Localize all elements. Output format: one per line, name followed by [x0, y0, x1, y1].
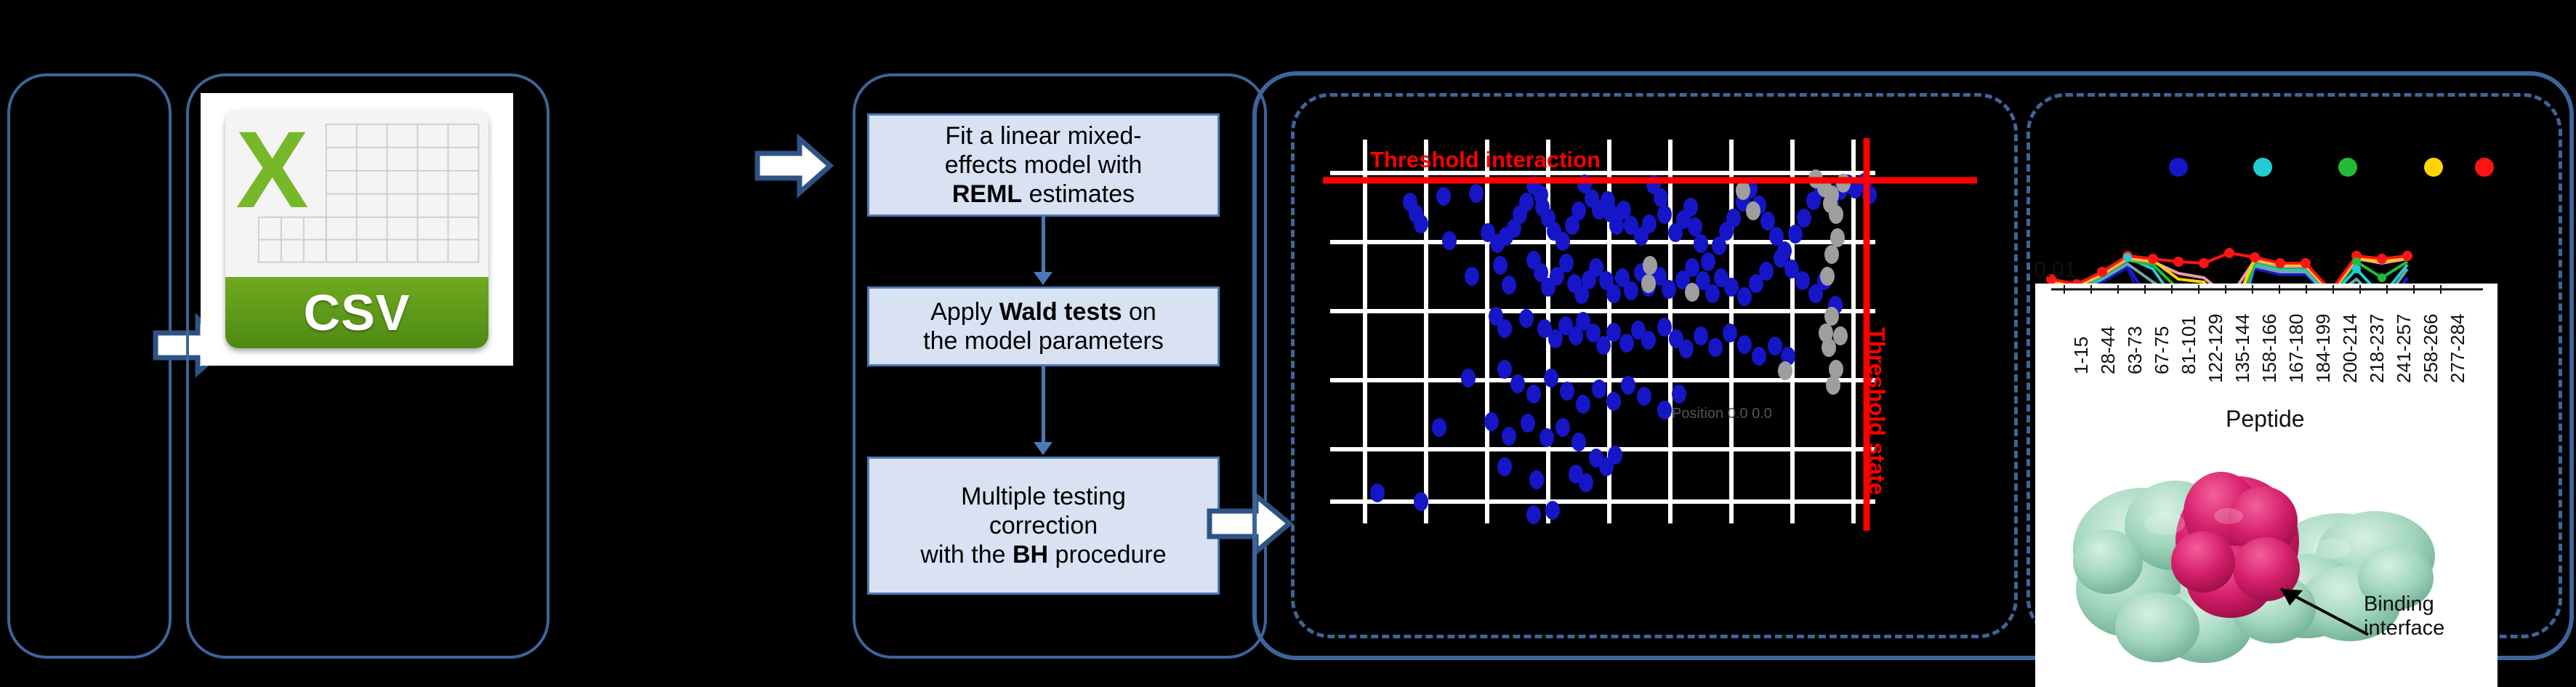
- bh-correction-line-1: Multiple testing: [920, 482, 1166, 511]
- xtick-9: 184-199: [2312, 314, 2335, 383]
- axis-line: [2035, 284, 2497, 305]
- xtick-1: 28-44: [2097, 326, 2120, 375]
- fit-model-line-1: Fit a linear mixed-: [945, 121, 1143, 150]
- excel-x-letter: X: [236, 115, 341, 220]
- stage-input-panel: [7, 73, 172, 659]
- bh-correction-line-3: with the BH procedure: [920, 540, 1166, 569]
- svg-text:Position 0.0 0.0: Position 0.0 0.0: [1672, 406, 1772, 422]
- ytick-label: 0.01: [2034, 258, 2076, 283]
- flowchart-canvas: X CSV Fit a linear mixed-effects model w…: [0, 0, 2576, 687]
- xtick-13: 258-266: [2420, 314, 2442, 383]
- threshold-interaction-label: Threshold interaction: [1370, 147, 1601, 173]
- csv-format-band: CSV: [225, 277, 488, 348]
- process-box-bh-correction: Multiple testingcorrectionwith the BH pr…: [867, 457, 1220, 595]
- xtick-3: 67-75: [2151, 326, 2173, 375]
- csv-file-icon: X CSV: [225, 110, 488, 348]
- callout-line-2: interface: [2364, 616, 2444, 640]
- xtick-5: 122-129: [2205, 314, 2227, 383]
- wald-tests-line-2: the model parameters: [923, 326, 1164, 355]
- xtick-2: 63-73: [2124, 326, 2146, 375]
- legend-dot-3: [2338, 158, 2357, 177]
- binding-interface-callout: Binding interface: [2364, 592, 2444, 641]
- process-box-wald-tests: Apply Wald tests onthe model parameters: [867, 286, 1220, 366]
- fit-model-line-2: effects model with: [945, 150, 1143, 180]
- legend-dot-2: [2253, 158, 2272, 177]
- callout-line-1: Binding: [2364, 592, 2444, 616]
- xtick-0: 1-15: [2070, 337, 2093, 374]
- peptide-axis-ticks: 1-15 28-44 63-73 67-75 81-101 122-129 13…: [2035, 284, 2497, 400]
- xtick-6: 135-144: [2231, 314, 2254, 383]
- xtick-11: 218-237: [2366, 314, 2388, 383]
- structure-figure-card: 1-15 28-44 63-73 67-75 81-101 122-129 13…: [2035, 284, 2497, 687]
- connector-fit-to-wald: [1042, 217, 1045, 275]
- process-box-fit-model: Fit a linear mixed-effects model withREM…: [867, 113, 1220, 217]
- csv-format-label: CSV: [304, 284, 411, 342]
- protein-structure-render: [2056, 440, 2463, 680]
- arrow-csv-to-model: [754, 133, 834, 198]
- threshold-state-label: Threshold state: [1864, 327, 1890, 495]
- xtick-10: 200-214: [2339, 314, 2362, 383]
- xtick-14: 277-284: [2447, 314, 2469, 383]
- legend-dot-4: [2424, 158, 2443, 177]
- xaxis-label-peptide: Peptide: [2226, 406, 2305, 433]
- bh-correction-line-2: correction: [920, 511, 1166, 540]
- xtick-4: 81-101: [2178, 316, 2200, 374]
- legend-dot-1: [2169, 158, 2188, 177]
- wald-tests-line-1: Apply Wald tests on: [923, 297, 1164, 326]
- connector-head-2: [1034, 442, 1052, 455]
- volcano-scatter-plot: Threshold interaction: [1323, 138, 1977, 603]
- connector-wald-to-bh: [1042, 366, 1045, 445]
- csv-file-thumbnail: X CSV: [201, 93, 513, 366]
- connector-head-1: [1034, 272, 1052, 285]
- xtick-7: 158-166: [2258, 314, 2281, 383]
- xtick-12: 241-257: [2393, 314, 2415, 383]
- legend-dot-5: [2475, 158, 2494, 177]
- xtick-8: 167-180: [2285, 314, 2308, 383]
- fit-model-line-3: REML estimates: [945, 180, 1143, 209]
